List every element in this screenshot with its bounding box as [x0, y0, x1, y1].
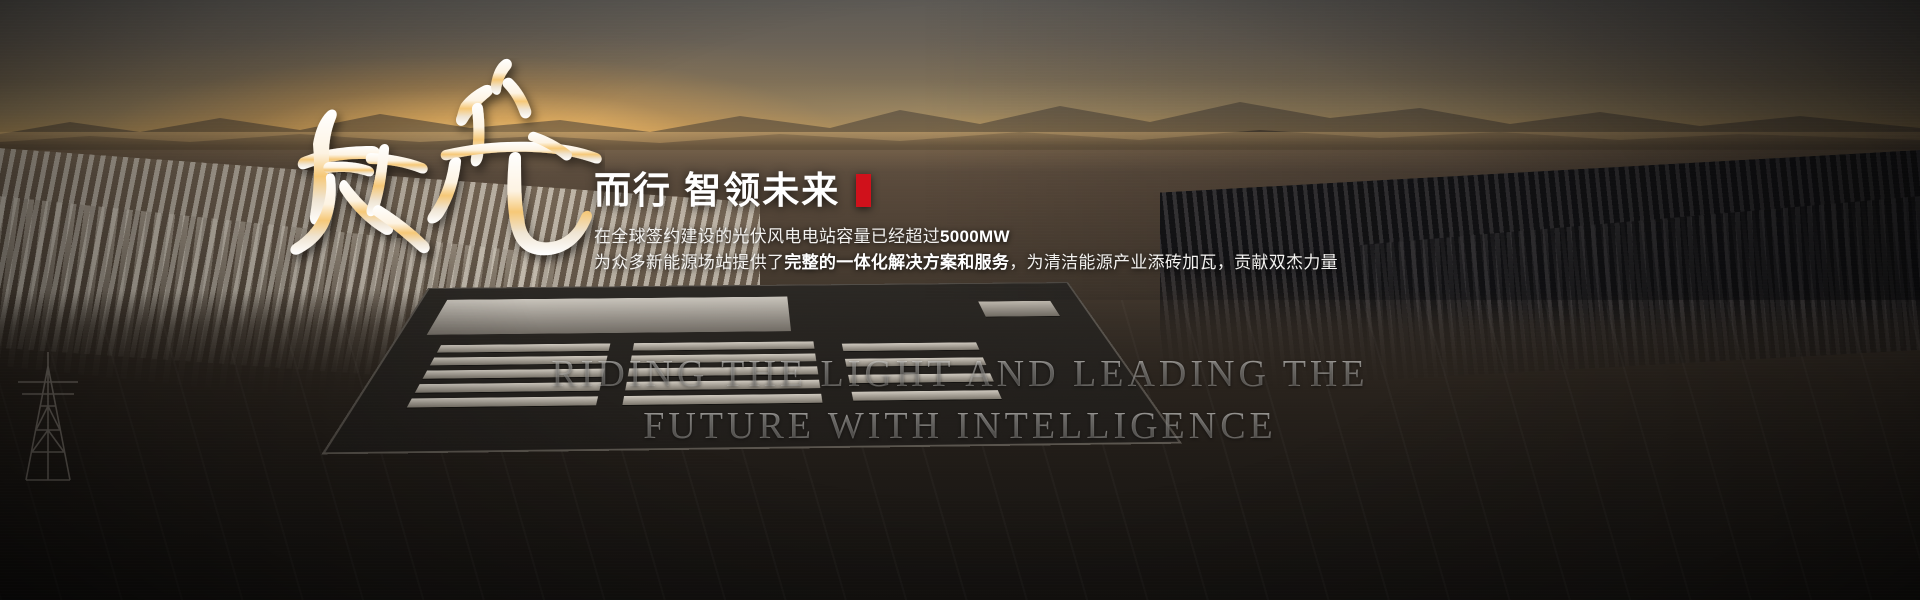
banner-text-block: 而行 智领未来 在全球签约建设的光伏风电电站容量已经超过5000MW 为众多新能…: [594, 168, 1494, 277]
subtitle-2-segment-bold: 完整的一体化解决方案和服务: [784, 253, 1009, 272]
subtitle-2-segment-plain-b: ，为清洁能源产业添砖加瓦，贡献双杰力量: [1009, 253, 1338, 272]
page-title: 而行 智领未来: [594, 172, 840, 209]
subtitle-1-segment-plain: 在全球签约建设的光伏风电电站容量已经超过: [594, 227, 940, 246]
subtitle-line-2: 为众多新能源场站提供了完整的一体化解决方案和服务，为清洁能源产业添砖加瓦，贡献双…: [594, 250, 1494, 276]
subtitle-2-segment-plain-a: 为众多新能源场站提供了: [594, 253, 784, 272]
subtitle-line-1: 在全球签约建设的光伏风电电站容量已经超过5000MW: [594, 224, 1494, 250]
headline-row: 而行 智领未来: [594, 168, 1494, 212]
headline-accent-bar: [856, 174, 871, 207]
subtitle-1-segment-bold: 5000MW: [940, 227, 1010, 246]
background-grain: [0, 0, 1920, 600]
hero-banner: 而行 智领未来 在全球签约建设的光伏风电电站容量已经超过5000MW 为众多新能…: [0, 0, 1920, 600]
